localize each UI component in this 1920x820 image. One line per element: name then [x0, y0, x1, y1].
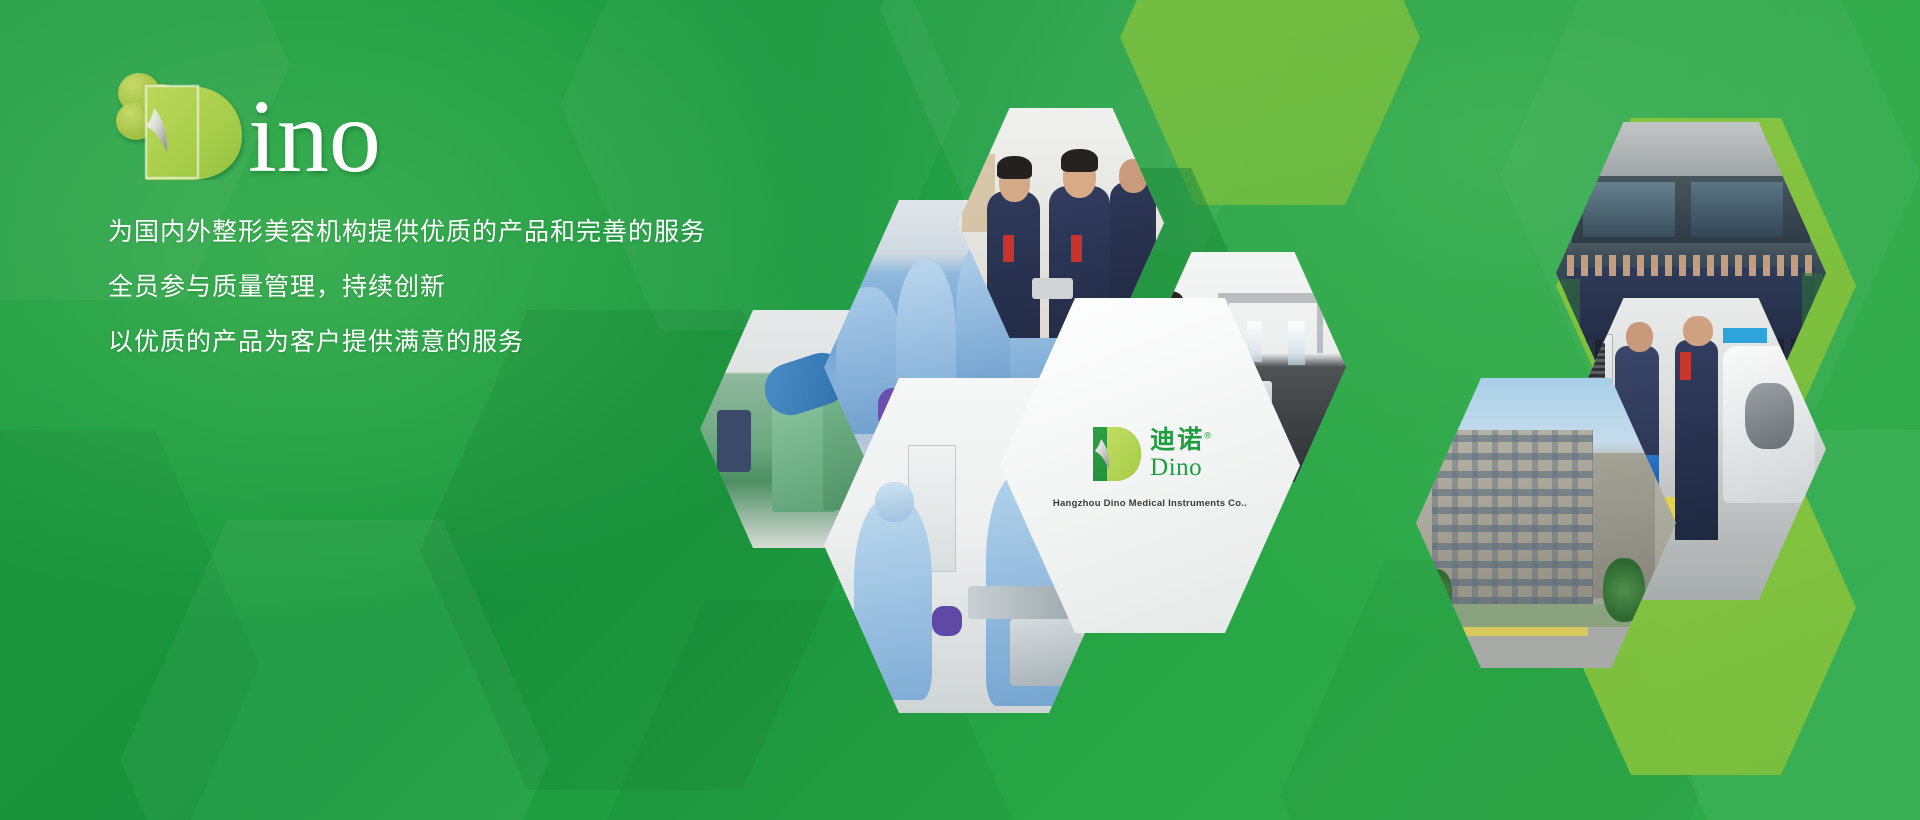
- center-logo-row: 迪诺® Dino: [1087, 423, 1213, 485]
- badge-chinese-name: 迪诺®: [1150, 428, 1213, 453]
- registered-mark-icon: ®: [1204, 430, 1213, 440]
- hexagon-photo-cluster: 迪诺® Dino Hangzhou Dino Medical Instrumen…: [0, 0, 1920, 820]
- badge-english-name: Dino: [1150, 455, 1213, 480]
- badge-chinese-text: 迪诺: [1150, 426, 1204, 454]
- badge-company-line: Hangzhou Dino Medical Instruments Co..: [1053, 498, 1247, 509]
- dino-badge-logo-icon: [1087, 423, 1143, 485]
- hero-banner: ino 为国内外整形美容机构提供优质的产品和完善的服务 全员参与质量管理，持续创…: [0, 0, 1920, 820]
